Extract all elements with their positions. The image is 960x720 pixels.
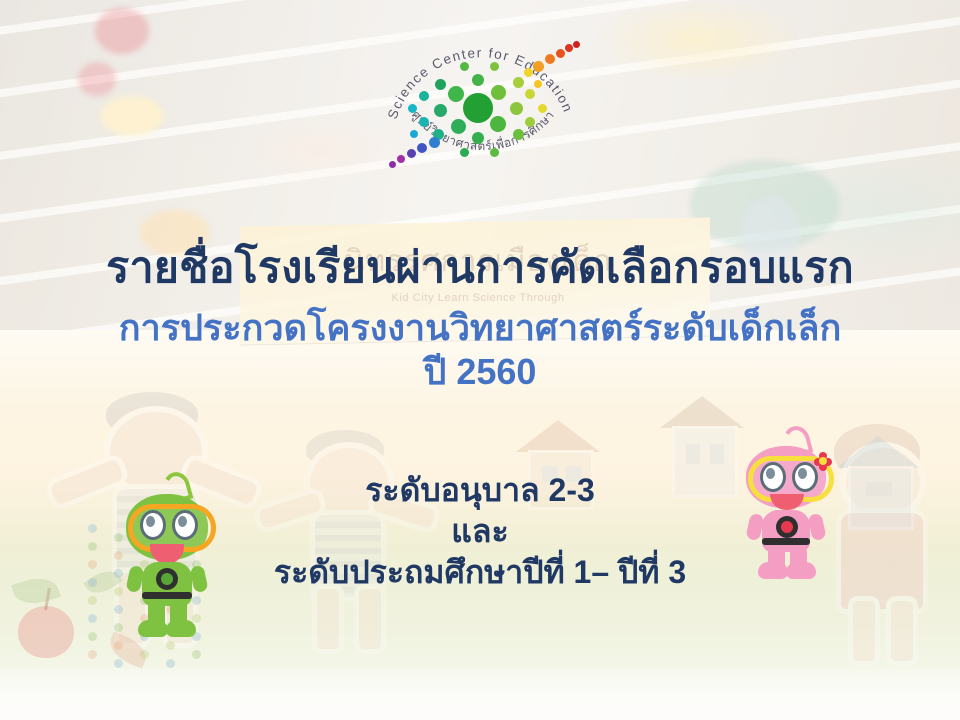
background-apple [18, 606, 74, 658]
background-blob [690, 160, 840, 250]
announcement-slide: นิทรรศการเมืองเด็ก Kid City Learn Scienc… [0, 0, 960, 720]
science-center-for-education-logo: Science Center for Education ศูนย์วิทยาศ… [378, 22, 584, 198]
background-blob [100, 96, 164, 136]
page-year: ปี 2560 [0, 350, 960, 395]
logo-dot-mark [378, 22, 584, 198]
flower-icon [814, 452, 832, 470]
headline-block: รายชื่อโรงเรียนผ่านการคัดเลือกรอบแรก การ… [0, 246, 960, 395]
page-subtitle: การประกวดโครงงานวิทยาศาสตร์ระดับเด็กเล็ก [0, 306, 960, 351]
background-blob [95, 8, 149, 54]
green-mascot [112, 470, 222, 640]
pink-mascot [734, 424, 840, 584]
page-title: รายชื่อโรงเรียนผ่านการคัดเลือกรอบแรก [0, 246, 960, 292]
background-blob [78, 62, 116, 96]
